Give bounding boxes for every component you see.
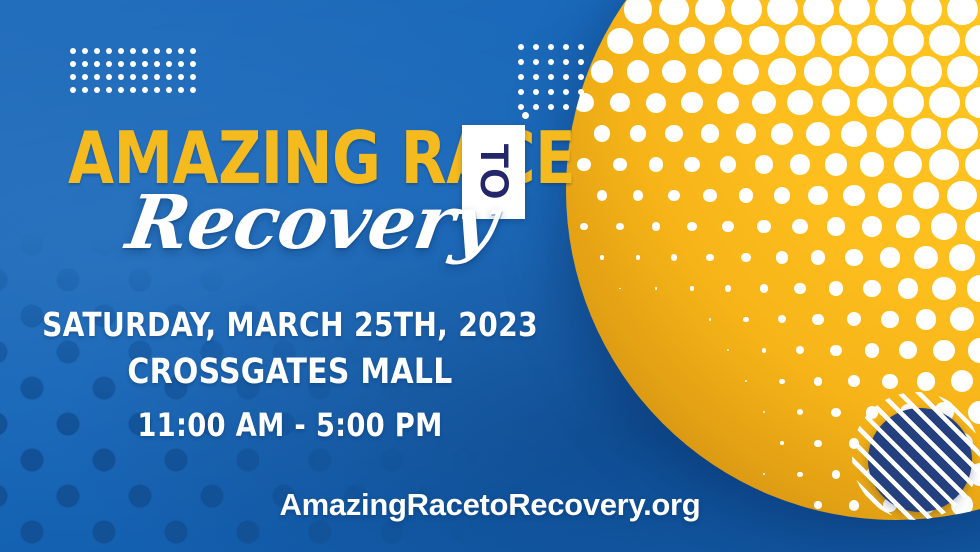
title-script-word: Recovery bbox=[122, 185, 501, 261]
website-url[interactable]: AmazingRacetoRecovery.org bbox=[0, 487, 980, 523]
event-details: SATURDAY, MARCH 25TH, 2023 CROSSGATES MA… bbox=[0, 305, 580, 451]
event-venue: CROSSGATES MALL bbox=[15, 345, 566, 399]
event-time: 11:00 AM - 5:00 PM bbox=[15, 399, 566, 451]
event-date: SATURDAY, MARCH 25TH, 2023 bbox=[15, 305, 566, 345]
event-poster: AMAZING RACE TO Recovery SATURDAY, MARCH… bbox=[0, 0, 980, 552]
